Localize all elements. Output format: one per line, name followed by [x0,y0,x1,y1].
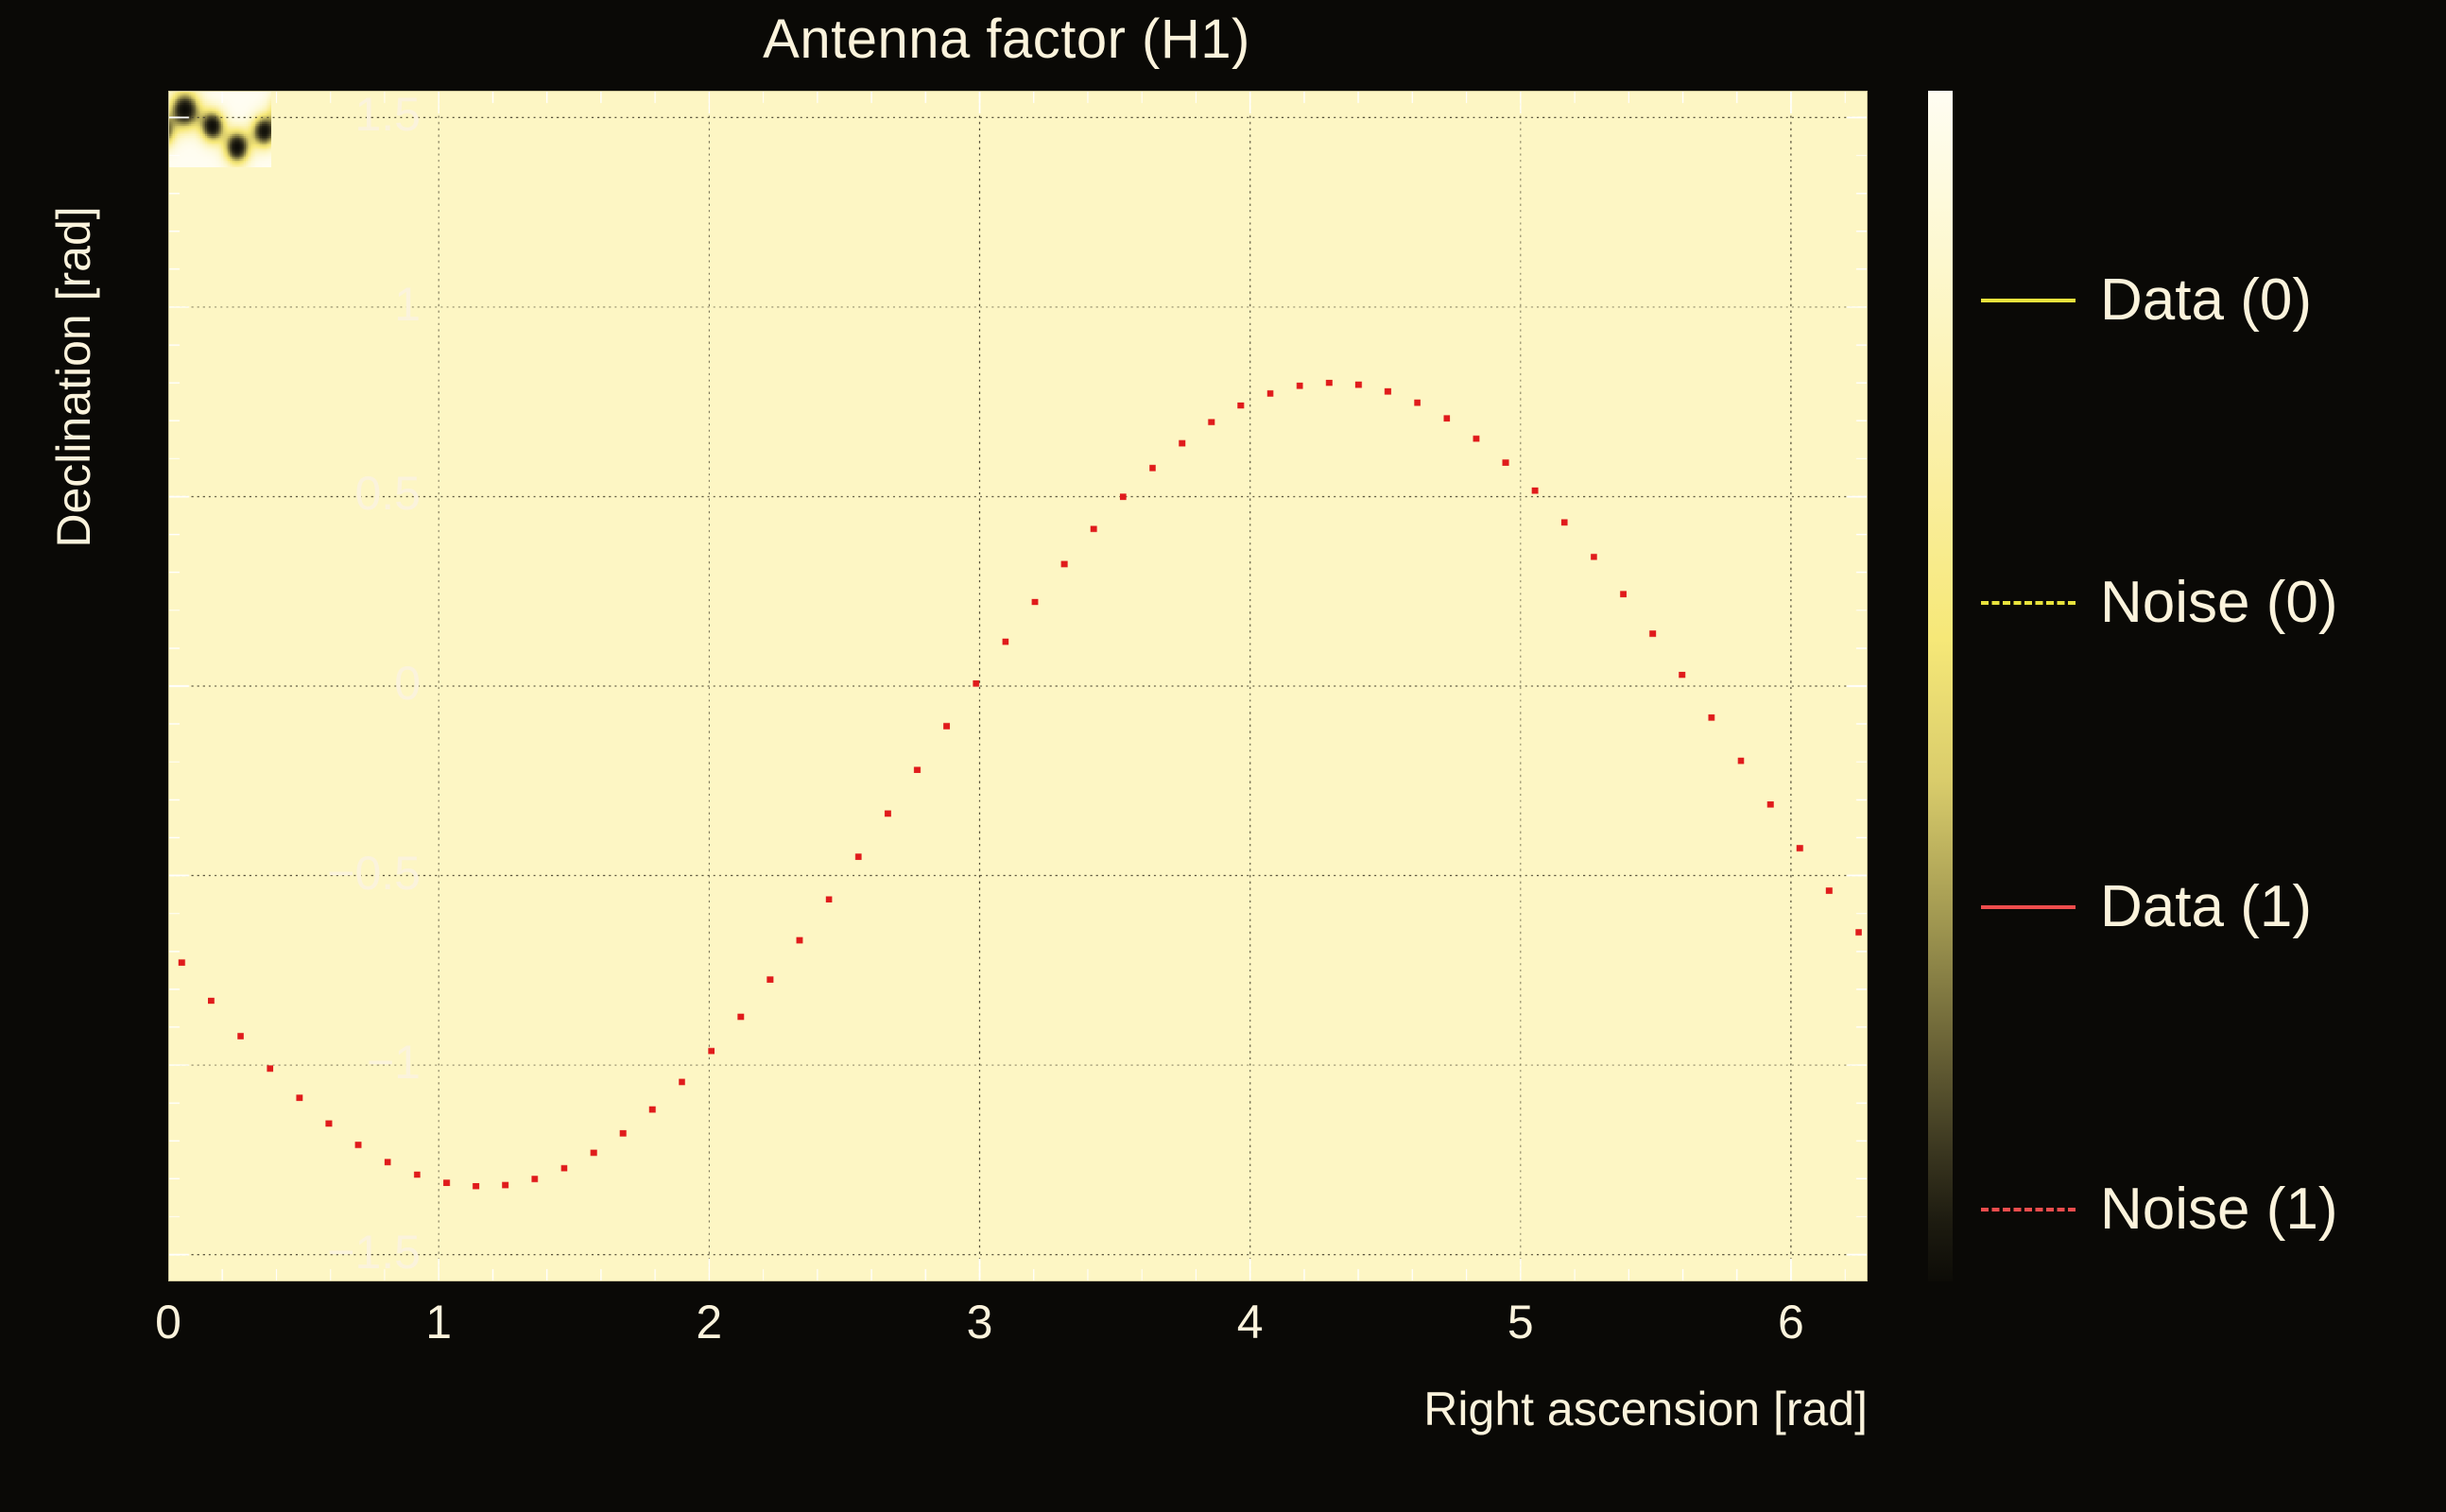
x-axis-label: Right ascension [rad] [922,1382,1868,1436]
y-tick-label: −1 [367,1039,421,1086]
legend-line-swatch [1981,299,2076,302]
noise-curve-overlay [168,91,1868,1281]
y-tick-label: 0 [394,660,421,707]
y-tick-label: 0.5 [354,470,421,517]
x-tick-label: 4 [1194,1298,1307,1346]
legend-label: Noise (1) [2100,1175,2338,1245]
colorbar [1928,91,1953,1281]
y-axis-label: Declination [rad] [46,84,101,670]
legend-line-swatch [1981,601,2076,605]
x-tick-label: 5 [1464,1298,1577,1346]
legend-label: Data (1) [2100,872,2312,942]
page-title: Antenna factor (H1) [0,8,2013,71]
y-tick-label: −1.5 [327,1228,421,1276]
legend-line-swatch [1981,1208,2076,1211]
x-tick-label: 2 [652,1298,766,1346]
y-tick-label: −0.5 [327,850,421,897]
x-tick-label: 3 [922,1298,1036,1346]
legend-line-swatch [1981,905,2076,909]
x-tick-label: 1 [382,1298,495,1346]
x-tick-label: 6 [1734,1298,1848,1346]
legend-label: Data (0) [2100,266,2312,335]
y-tick-label: 1.5 [354,91,421,138]
legend-label: Noise (0) [2100,568,2338,638]
y-tick-label: 1 [394,281,421,328]
heatmap-plot-area [168,91,1868,1281]
x-tick-label: 0 [112,1298,225,1346]
